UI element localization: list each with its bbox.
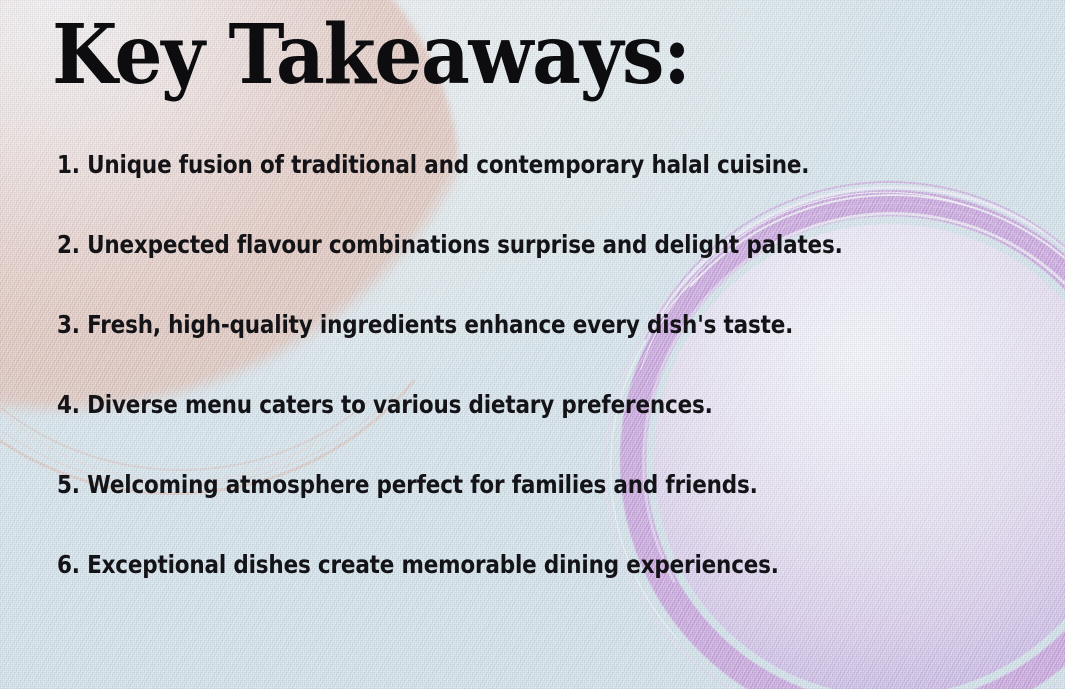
slide-content: Key Takeaways: 1. Unique fusion of tradi…	[0, 0, 1065, 689]
list-item: 1. Unique fusion of traditional and cont…	[57, 150, 957, 230]
takeaway-text: 2. Unexpected flavour combinations surpr…	[57, 230, 843, 260]
slide-canvas: Key Takeaways: 1. Unique fusion of tradi…	[0, 0, 1065, 689]
takeaway-text: 3. Fresh, high-quality ingredients enhan…	[57, 310, 793, 340]
list-item: 3. Fresh, high-quality ingredients enhan…	[57, 310, 957, 390]
list-item: 6. Exceptional dishes create memorable d…	[57, 550, 957, 630]
list-item: 5. Welcoming atmosphere perfect for fami…	[57, 470, 957, 550]
list-item: 4. Diverse menu caters to various dietar…	[57, 390, 957, 470]
page-title: Key Takeaways:	[52, 14, 690, 96]
takeaway-text: 4. Diverse menu caters to various dietar…	[57, 390, 713, 420]
takeaways-list: 1. Unique fusion of traditional and cont…	[57, 150, 957, 630]
list-item: 2. Unexpected flavour combinations surpr…	[57, 230, 957, 310]
takeaway-text: 6. Exceptional dishes create memorable d…	[57, 550, 779, 580]
takeaway-text: 1. Unique fusion of traditional and cont…	[57, 150, 809, 180]
takeaway-text: 5. Welcoming atmosphere perfect for fami…	[57, 470, 758, 500]
